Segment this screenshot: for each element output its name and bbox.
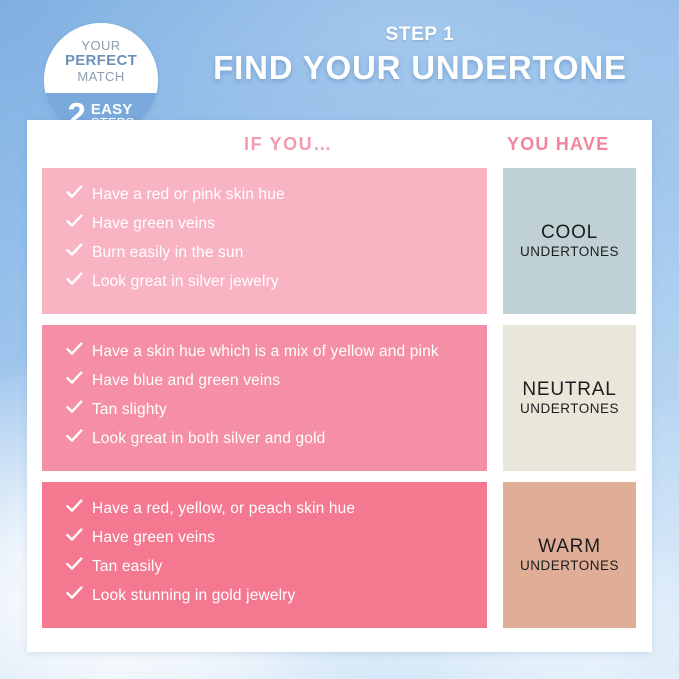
list-item: Tan easily bbox=[66, 556, 487, 577]
check-icon bbox=[66, 184, 92, 199]
check-icon bbox=[66, 556, 92, 571]
header: STEP 1 FIND YOUR UNDERTONE bbox=[170, 24, 670, 87]
undertone-swatch-neutral: NEUTRAL UNDERTONES bbox=[503, 325, 636, 471]
step-label: STEP 1 bbox=[170, 24, 670, 46]
list-item: Look great in silver jewelry bbox=[66, 271, 487, 292]
content-card: IF YOU… YOU HAVE Have a red or pink skin… bbox=[27, 120, 652, 652]
check-icon bbox=[66, 585, 92, 600]
criteria-text: Have blue and green veins bbox=[92, 370, 280, 391]
table-row: Have a skin hue which is a mix of yellow… bbox=[42, 325, 637, 471]
undertone-swatch-warm: WARM UNDERTONES bbox=[503, 482, 636, 628]
undertone-subtitle: UNDERTONES bbox=[520, 244, 619, 260]
column-header-you-have: YOU HAVE bbox=[507, 134, 609, 155]
undertone-name: WARM bbox=[538, 536, 601, 558]
criteria-text: Have green veins bbox=[92, 527, 215, 548]
undertone-name: COOL bbox=[541, 222, 598, 244]
check-icon bbox=[66, 213, 92, 228]
list-item: Look great in both silver and gold bbox=[66, 428, 487, 449]
criteria-text: Have a red, yellow, or peach skin hue bbox=[92, 498, 355, 519]
badge-perfect-label: PERFECT bbox=[65, 53, 137, 69]
criteria-text: Look great in both silver and gold bbox=[92, 428, 325, 449]
column-header-if-you: IF YOU… bbox=[244, 134, 333, 155]
criteria-text: Have a skin hue which is a mix of yellow… bbox=[92, 341, 439, 362]
table-row: Have a red or pink skin hue Have green v… bbox=[42, 168, 637, 314]
list-item: Have blue and green veins bbox=[66, 370, 487, 391]
check-icon bbox=[66, 370, 92, 385]
criteria-text: Tan easily bbox=[92, 556, 162, 577]
check-icon bbox=[66, 271, 92, 286]
infographic-canvas: YOUR PERFECT MATCH 2 EASY STEPS STEP 1 F… bbox=[0, 0, 679, 679]
criteria-panel-warm: Have a red, yellow, or peach skin hue Ha… bbox=[42, 482, 487, 628]
undertone-name: NEUTRAL bbox=[522, 379, 616, 401]
list-item: Have a red or pink skin hue bbox=[66, 184, 487, 205]
badge-match-label: MATCH bbox=[77, 69, 124, 84]
undertone-subtitle: UNDERTONES bbox=[520, 401, 619, 417]
list-item: Have green veins bbox=[66, 213, 487, 234]
criteria-text: Look great in silver jewelry bbox=[92, 271, 279, 292]
criteria-text: Tan slighty bbox=[92, 399, 167, 420]
check-icon bbox=[66, 242, 92, 257]
criteria-text: Burn easily in the sun bbox=[92, 242, 244, 263]
check-icon bbox=[66, 428, 92, 443]
criteria-text: Have green veins bbox=[92, 213, 215, 234]
check-icon bbox=[66, 341, 92, 356]
criteria-panel-cool: Have a red or pink skin hue Have green v… bbox=[42, 168, 487, 314]
undertone-subtitle: UNDERTONES bbox=[520, 558, 619, 574]
table-row: Have a red, yellow, or peach skin hue Ha… bbox=[42, 482, 637, 628]
check-icon bbox=[66, 527, 92, 542]
check-icon bbox=[66, 498, 92, 513]
column-headers: IF YOU… YOU HAVE bbox=[69, 134, 614, 164]
list-item: Have a red, yellow, or peach skin hue bbox=[66, 498, 487, 519]
criteria-text: Look stunning in gold jewelry bbox=[92, 585, 295, 606]
list-item: Burn easily in the sun bbox=[66, 242, 487, 263]
list-item: Have a skin hue which is a mix of yellow… bbox=[66, 341, 487, 362]
check-icon bbox=[66, 399, 92, 414]
badge-top-half: YOUR PERFECT MATCH bbox=[44, 23, 158, 93]
list-item: Have green veins bbox=[66, 527, 487, 548]
list-item: Look stunning in gold jewelry bbox=[66, 585, 487, 606]
page-title: FIND YOUR UNDERTONE bbox=[170, 49, 670, 87]
badge-your-label: YOUR bbox=[81, 39, 120, 53]
undertone-swatch-cool: COOL UNDERTONES bbox=[503, 168, 636, 314]
criteria-panel-neutral: Have a skin hue which is a mix of yellow… bbox=[42, 325, 487, 471]
criteria-text: Have a red or pink skin hue bbox=[92, 184, 285, 205]
list-item: Tan slighty bbox=[66, 399, 487, 420]
